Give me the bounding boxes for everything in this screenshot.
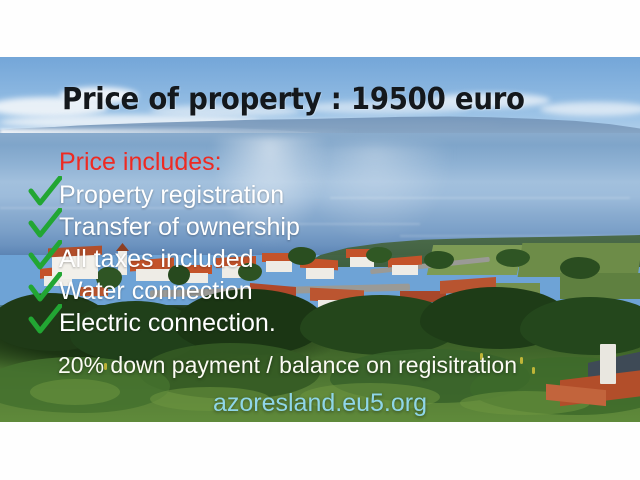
list-item: Electric connection.	[0, 308, 640, 340]
website-url[interactable]: azoresland.eu5.org	[0, 388, 640, 418]
list-item-label: Property registration	[59, 180, 284, 211]
payment-terms: 20% down payment / balance on regisitrat…	[58, 351, 517, 379]
page-title: Price of property : 19500 euro	[62, 84, 525, 116]
check-icon	[28, 208, 62, 242]
check-icon	[28, 240, 62, 274]
text-overlay: Price of property : 19500 euro Price inc…	[0, 0, 640, 480]
list-item: Property registration	[0, 180, 640, 212]
check-icon	[28, 176, 62, 210]
list-item-label: All taxes included	[59, 244, 254, 275]
check-icon	[28, 272, 62, 306]
inclusions-list: Property registration Transfer of owners…	[0, 180, 640, 340]
list-item-label: Transfer of ownership	[59, 212, 300, 243]
list-item: All taxes included	[0, 244, 640, 276]
list-item-label: Electric connection.	[59, 308, 276, 339]
price-includes-heading: Price includes:	[59, 148, 222, 176]
check-icon	[28, 304, 62, 338]
poster-canvas: Price of property : 19500 euro Price inc…	[0, 0, 640, 480]
list-item: Transfer of ownership	[0, 212, 640, 244]
list-item: Water connection	[0, 276, 640, 308]
list-item-label: Water connection	[59, 276, 253, 307]
